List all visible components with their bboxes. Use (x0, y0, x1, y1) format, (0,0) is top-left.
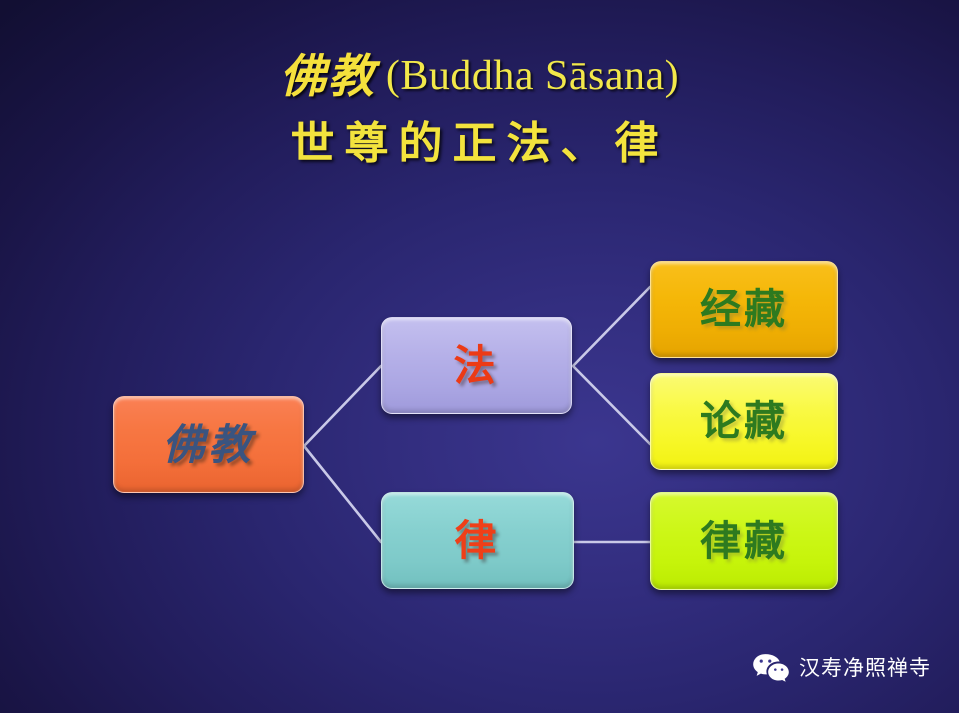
watermark-text: 汉寿净照禅寺 (799, 652, 931, 682)
connector-fa-to-jingzang (573, 287, 650, 366)
node-jingzang-label: 经藏 (700, 289, 788, 330)
presentation-slide: 佛教(Buddha Sāsana) 世尊的正法、律 佛教 法 (0, 0, 959, 713)
connector-root-to-lv (304, 446, 381, 542)
connector-fa-to-lunzang (573, 366, 650, 444)
node-lvzang[interactable]: 律藏 (650, 492, 838, 590)
node-lunzang[interactable]: 论藏 (650, 373, 838, 470)
node-fa-label: 法 (453, 345, 499, 387)
node-fojiao[interactable]: 佛教 (113, 396, 304, 493)
hierarchy-diagram: 佛教 法 律 经藏 论藏 律藏 (0, 0, 959, 713)
node-lunzang-label: 论藏 (700, 401, 788, 442)
node-lvzang-label: 律藏 (700, 521, 788, 562)
node-fa[interactable]: 法 (381, 317, 572, 414)
node-fojiao-label: 佛教 (162, 424, 254, 466)
connector-root-to-fa (304, 366, 381, 446)
node-lv[interactable]: 律 (381, 492, 574, 589)
watermark: 汉寿净照禅寺 (752, 652, 931, 682)
node-lv-label: 律 (454, 520, 500, 562)
node-jingzang[interactable]: 经藏 (650, 261, 838, 358)
wechat-icon (752, 652, 790, 682)
